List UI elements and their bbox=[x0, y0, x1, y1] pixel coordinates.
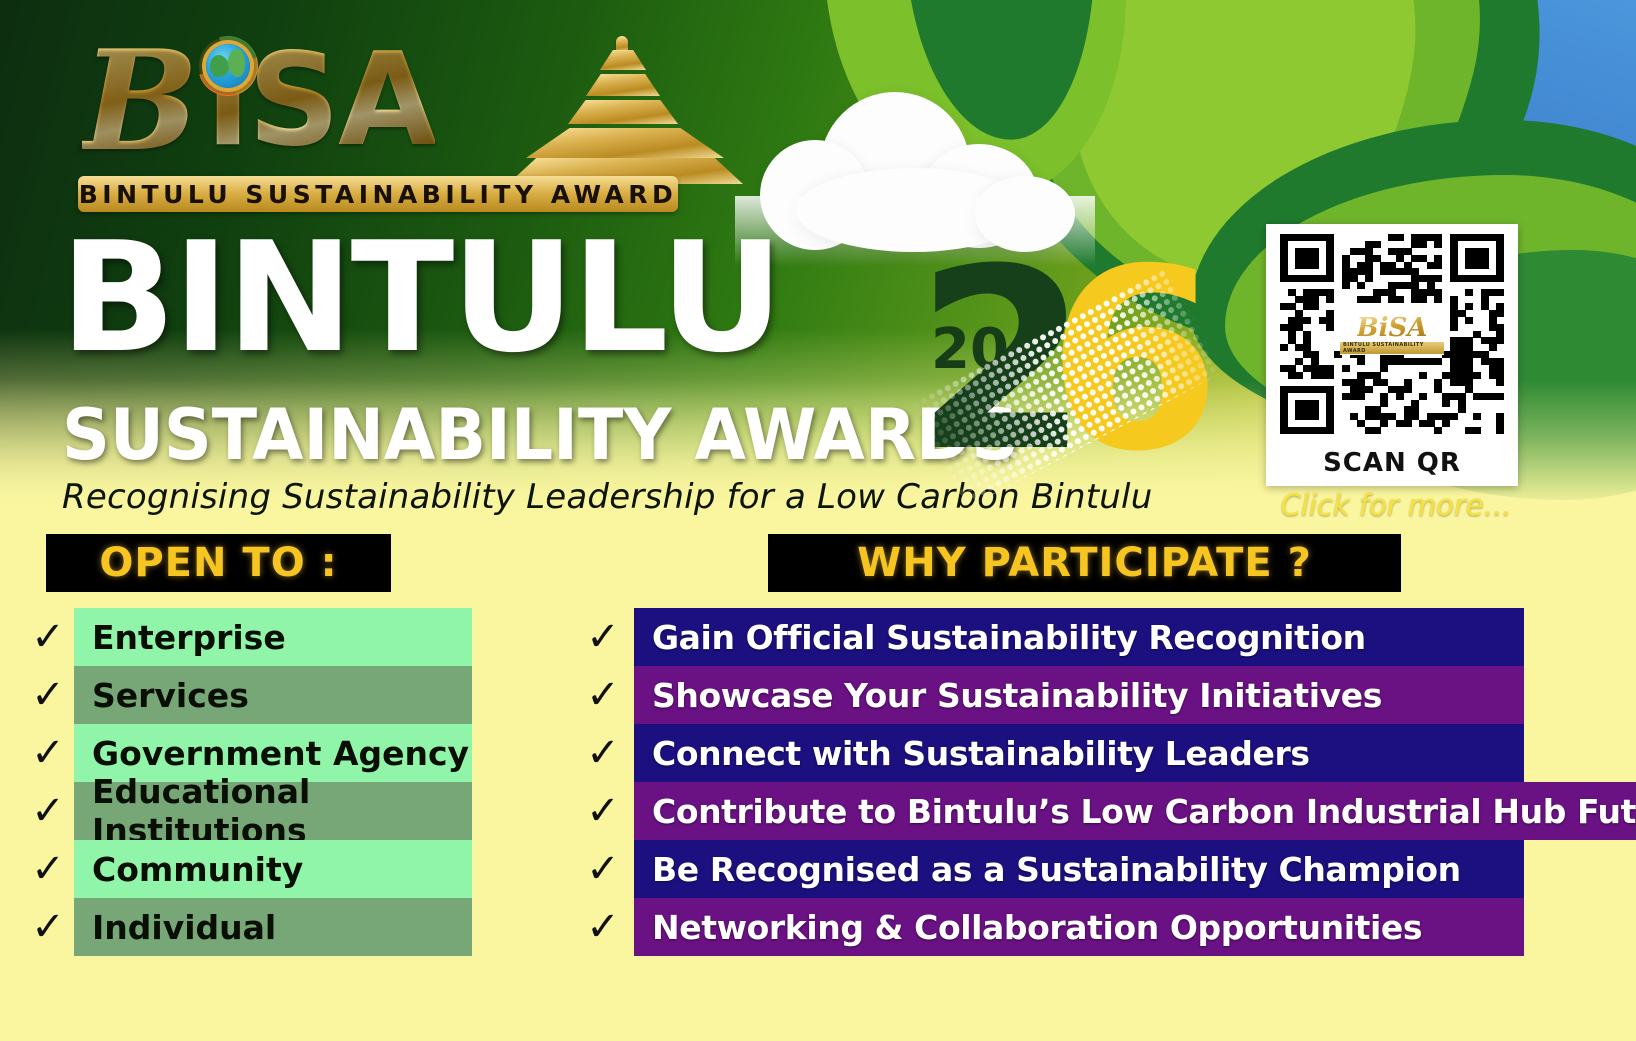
check-icon: ✓ bbox=[572, 840, 634, 898]
open-to-item-bar: Educational Institutions bbox=[74, 782, 472, 840]
open-to-item-bar: Individual bbox=[74, 898, 472, 956]
year-badge: 2 6 20 bbox=[915, 236, 1215, 496]
qr-code-icon[interactable]: BiSA BINTULU SUSTAINABILITY AWARD bbox=[1280, 234, 1504, 434]
page-subtitle: SUSTAINABILITY AWARDS bbox=[62, 400, 1019, 470]
open-to-item-label: Individual bbox=[92, 908, 276, 947]
check-icon: ✓ bbox=[572, 898, 634, 956]
why-item-bar: Contribute to Bintulu’s Low Carbon Indus… bbox=[634, 782, 1636, 840]
check-icon: ✓ bbox=[22, 840, 74, 898]
why-participate-list: ✓Gain Official Sustainability Recognitio… bbox=[572, 608, 1524, 956]
open-to-item-label: Educational Institutions bbox=[92, 772, 472, 850]
open-to-item-label: Community bbox=[92, 850, 303, 889]
page-title: BINTULU bbox=[60, 222, 781, 374]
why-item-label: Networking & Collaboration Opportunities bbox=[652, 908, 1422, 947]
open-to-item-bar: Services bbox=[74, 666, 472, 724]
section-header-why-participate: WHY PARTICIPATE ? bbox=[768, 534, 1401, 592]
logo-badge-text: BINTULU SUSTAINABILITY AWARD bbox=[79, 180, 678, 209]
why-item-label: Contribute to Bintulu’s Low Carbon Indus… bbox=[652, 792, 1636, 831]
open-to-item-row: ✓Educational Institutions bbox=[22, 782, 472, 840]
open-to-item-label: Government Agency bbox=[92, 734, 469, 773]
qr-logo-subtext: BINTULU SUSTAINABILITY AWARD bbox=[1340, 342, 1444, 354]
year-digit-6: 6 bbox=[1047, 236, 1213, 486]
check-icon: ✓ bbox=[22, 782, 74, 840]
check-icon: ✓ bbox=[572, 782, 634, 840]
why-item-row: ✓Showcase Your Sustainability Initiative… bbox=[572, 666, 1524, 724]
logo-badge: BINTULU SUSTAINABILITY AWARD bbox=[78, 176, 678, 212]
why-item-label: Connect with Sustainability Leaders bbox=[652, 734, 1310, 773]
why-item-row: ✓Networking & Collaboration Opportunitie… bbox=[572, 898, 1524, 956]
open-to-item-row: ✓Individual bbox=[22, 898, 472, 956]
open-to-item-label: Services bbox=[92, 676, 249, 715]
check-icon: ✓ bbox=[22, 724, 74, 782]
poster-root: B iSA BINTULU SUSTAINABILITY AWARD BINTU… bbox=[0, 0, 1636, 1041]
check-icon: ✓ bbox=[572, 724, 634, 782]
open-to-item-row: ✓Community bbox=[22, 840, 472, 898]
open-to-item-bar: Community bbox=[74, 840, 472, 898]
section-header-why-participate-label: WHY PARTICIPATE ? bbox=[857, 540, 1312, 586]
check-icon: ✓ bbox=[22, 608, 74, 666]
check-icon: ✓ bbox=[22, 898, 74, 956]
why-item-bar: Be Recognised as a Sustainability Champi… bbox=[634, 840, 1524, 898]
section-header-open-to-label: OPEN TO : bbox=[99, 540, 337, 586]
qr-center-logo: BiSA BINTULU SUSTAINABILITY AWARD bbox=[1340, 313, 1444, 355]
section-header-open-to: OPEN TO : bbox=[46, 534, 391, 592]
bisa-logo-mark: B iSA bbox=[78, 24, 678, 174]
why-item-row: ✓Be Recognised as a Sustainability Champ… bbox=[572, 840, 1524, 898]
open-to-item-row: ✓Enterprise bbox=[22, 608, 472, 666]
open-to-item-label: Enterprise bbox=[92, 618, 286, 657]
logo-letter-b: B bbox=[82, 32, 199, 170]
why-item-bar: Networking & Collaboration Opportunities bbox=[634, 898, 1524, 956]
qr-logo-text: BiSA bbox=[1357, 315, 1428, 341]
bisa-logo[interactable]: B iSA BINTULU SUSTAINABILITY AWARD bbox=[78, 24, 678, 214]
qr-code-block[interactable]: BiSA BINTULU SUSTAINABILITY AWARD SCAN Q… bbox=[1266, 224, 1518, 486]
globe-icon bbox=[206, 44, 250, 88]
open-to-list: ✓Enterprise✓Services✓Government Agency✓E… bbox=[22, 608, 472, 956]
why-item-label: Be Recognised as a Sustainability Champi… bbox=[652, 850, 1461, 889]
why-item-label: Gain Official Sustainability Recognition bbox=[652, 618, 1366, 657]
check-icon: ✓ bbox=[572, 666, 634, 724]
why-item-row: ✓Contribute to Bintulu’s Low Carbon Indu… bbox=[572, 782, 1524, 840]
why-item-bar: Gain Official Sustainability Recognition bbox=[634, 608, 1524, 666]
why-item-bar: Connect with Sustainability Leaders bbox=[634, 724, 1524, 782]
check-icon: ✓ bbox=[22, 666, 74, 724]
why-item-label: Showcase Your Sustainability Initiatives bbox=[652, 676, 1382, 715]
open-to-item-bar: Enterprise bbox=[74, 608, 472, 666]
year-prefix-20: 20 bbox=[931, 322, 1009, 378]
qr-click-link[interactable]: Click for more... bbox=[1266, 488, 1526, 522]
why-item-row: ✓Connect with Sustainability Leaders bbox=[572, 724, 1524, 782]
pagoda-tower-icon bbox=[508, 36, 743, 184]
open-to-item-row: ✓Services bbox=[22, 666, 472, 724]
why-item-bar: Showcase Your Sustainability Initiatives bbox=[634, 666, 1524, 724]
why-item-row: ✓Gain Official Sustainability Recognitio… bbox=[572, 608, 1524, 666]
qr-caption: SCAN QR bbox=[1266, 448, 1518, 478]
check-icon: ✓ bbox=[572, 608, 634, 666]
